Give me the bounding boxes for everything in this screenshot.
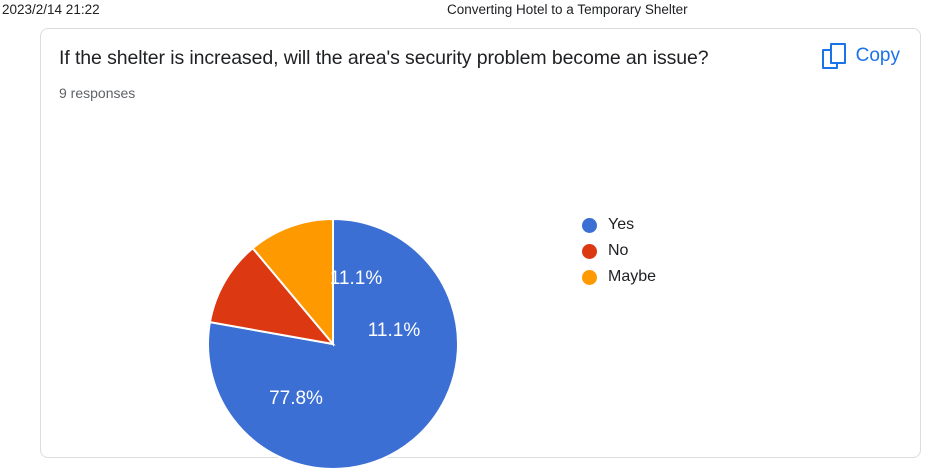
legend-swatch-yes xyxy=(582,218,597,233)
legend-label-maybe: Maybe xyxy=(608,267,656,287)
pie-slices xyxy=(208,219,458,469)
print-header-date: 2023/2/14 21:22 xyxy=(2,2,100,17)
chart-legend: Yes No Maybe xyxy=(582,212,782,290)
pie-slice-label-no: 11.1% xyxy=(330,268,383,289)
copy-button[interactable]: Copy xyxy=(816,39,906,73)
pie-chart: 77.8%11.1%11.1% Yes No Maybe xyxy=(41,179,922,459)
legend-label-yes: Yes xyxy=(608,215,634,235)
legend-item-yes[interactable]: Yes xyxy=(582,212,782,238)
legend-swatch-maybe xyxy=(582,270,597,285)
question-title: If the shelter is increased, will the ar… xyxy=(59,43,759,73)
pie-svg: 77.8%11.1%11.1% xyxy=(208,219,458,469)
legend-item-maybe[interactable]: Maybe xyxy=(582,264,782,290)
copy-icon xyxy=(822,43,846,69)
legend-item-no[interactable]: No xyxy=(582,238,782,264)
print-header: 2023/2/14 21:22 Converting Hotel to a Te… xyxy=(0,0,931,26)
pie-slice-label-yes: 77.8% xyxy=(269,388,323,409)
card-header: If the shelter is increased, will the ar… xyxy=(41,29,920,102)
response-count: 9 responses xyxy=(59,84,902,102)
legend-swatch-no xyxy=(582,244,597,259)
copy-button-label: Copy xyxy=(856,45,900,67)
legend-label-no: No xyxy=(608,241,628,261)
pie-slice-label-maybe: 11.1% xyxy=(368,320,421,341)
question-card: If the shelter is increased, will the ar… xyxy=(40,28,921,458)
print-header-title: Converting Hotel to a Temporary Shelter xyxy=(447,2,688,17)
pie-chart-graphic: 77.8%11.1%11.1% xyxy=(208,219,458,469)
